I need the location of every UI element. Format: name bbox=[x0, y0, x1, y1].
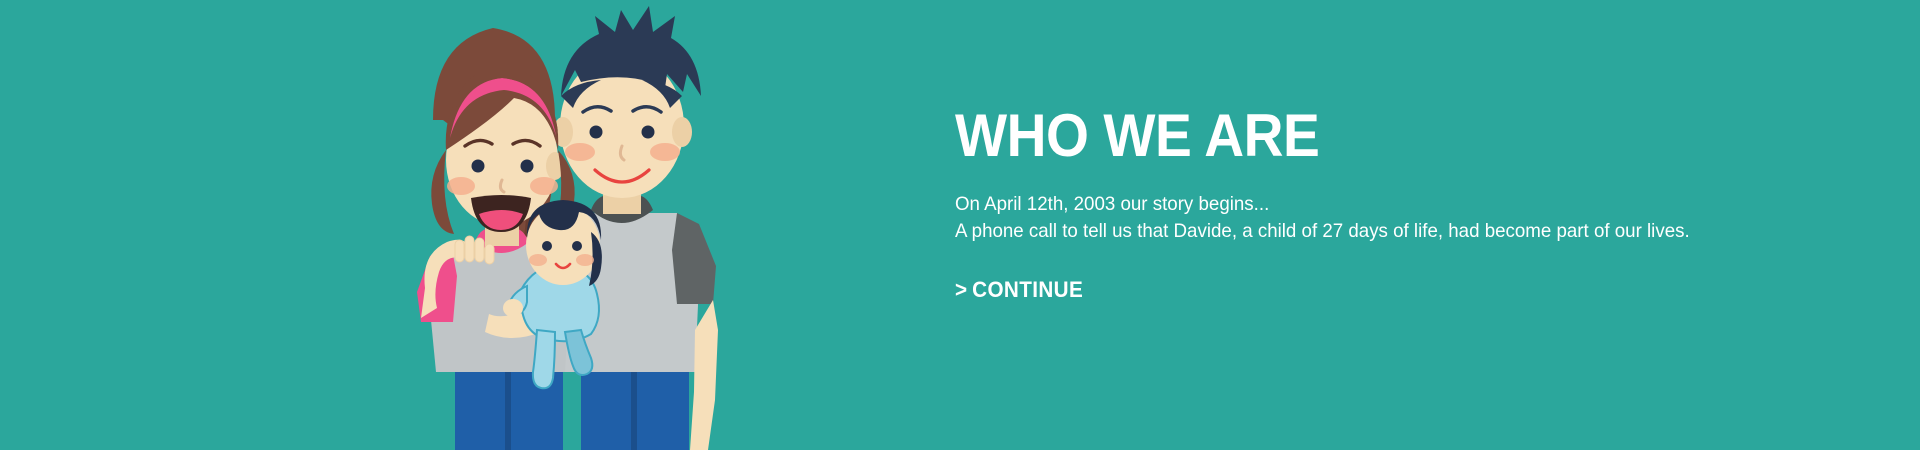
family-illustration bbox=[395, 0, 855, 450]
description-line-2: A phone call to tell us that Davide, a c… bbox=[955, 218, 1800, 245]
banner-description: On April 12th, 2003 our story begins... … bbox=[955, 167, 1800, 245]
page-title: WHO WE ARE bbox=[955, 105, 1765, 167]
continue-label: CONTINUE bbox=[972, 277, 1083, 302]
chevron-right-icon: > bbox=[955, 277, 967, 303]
who-we-are-banner: WHO WE ARE On April 12th, 2003 our story… bbox=[0, 0, 1920, 450]
banner-text-block: WHO WE ARE On April 12th, 2003 our story… bbox=[955, 105, 1835, 303]
continue-link[interactable]: >CONTINUE bbox=[955, 277, 1083, 303]
description-line-1: On April 12th, 2003 our story begins... bbox=[955, 191, 1800, 218]
